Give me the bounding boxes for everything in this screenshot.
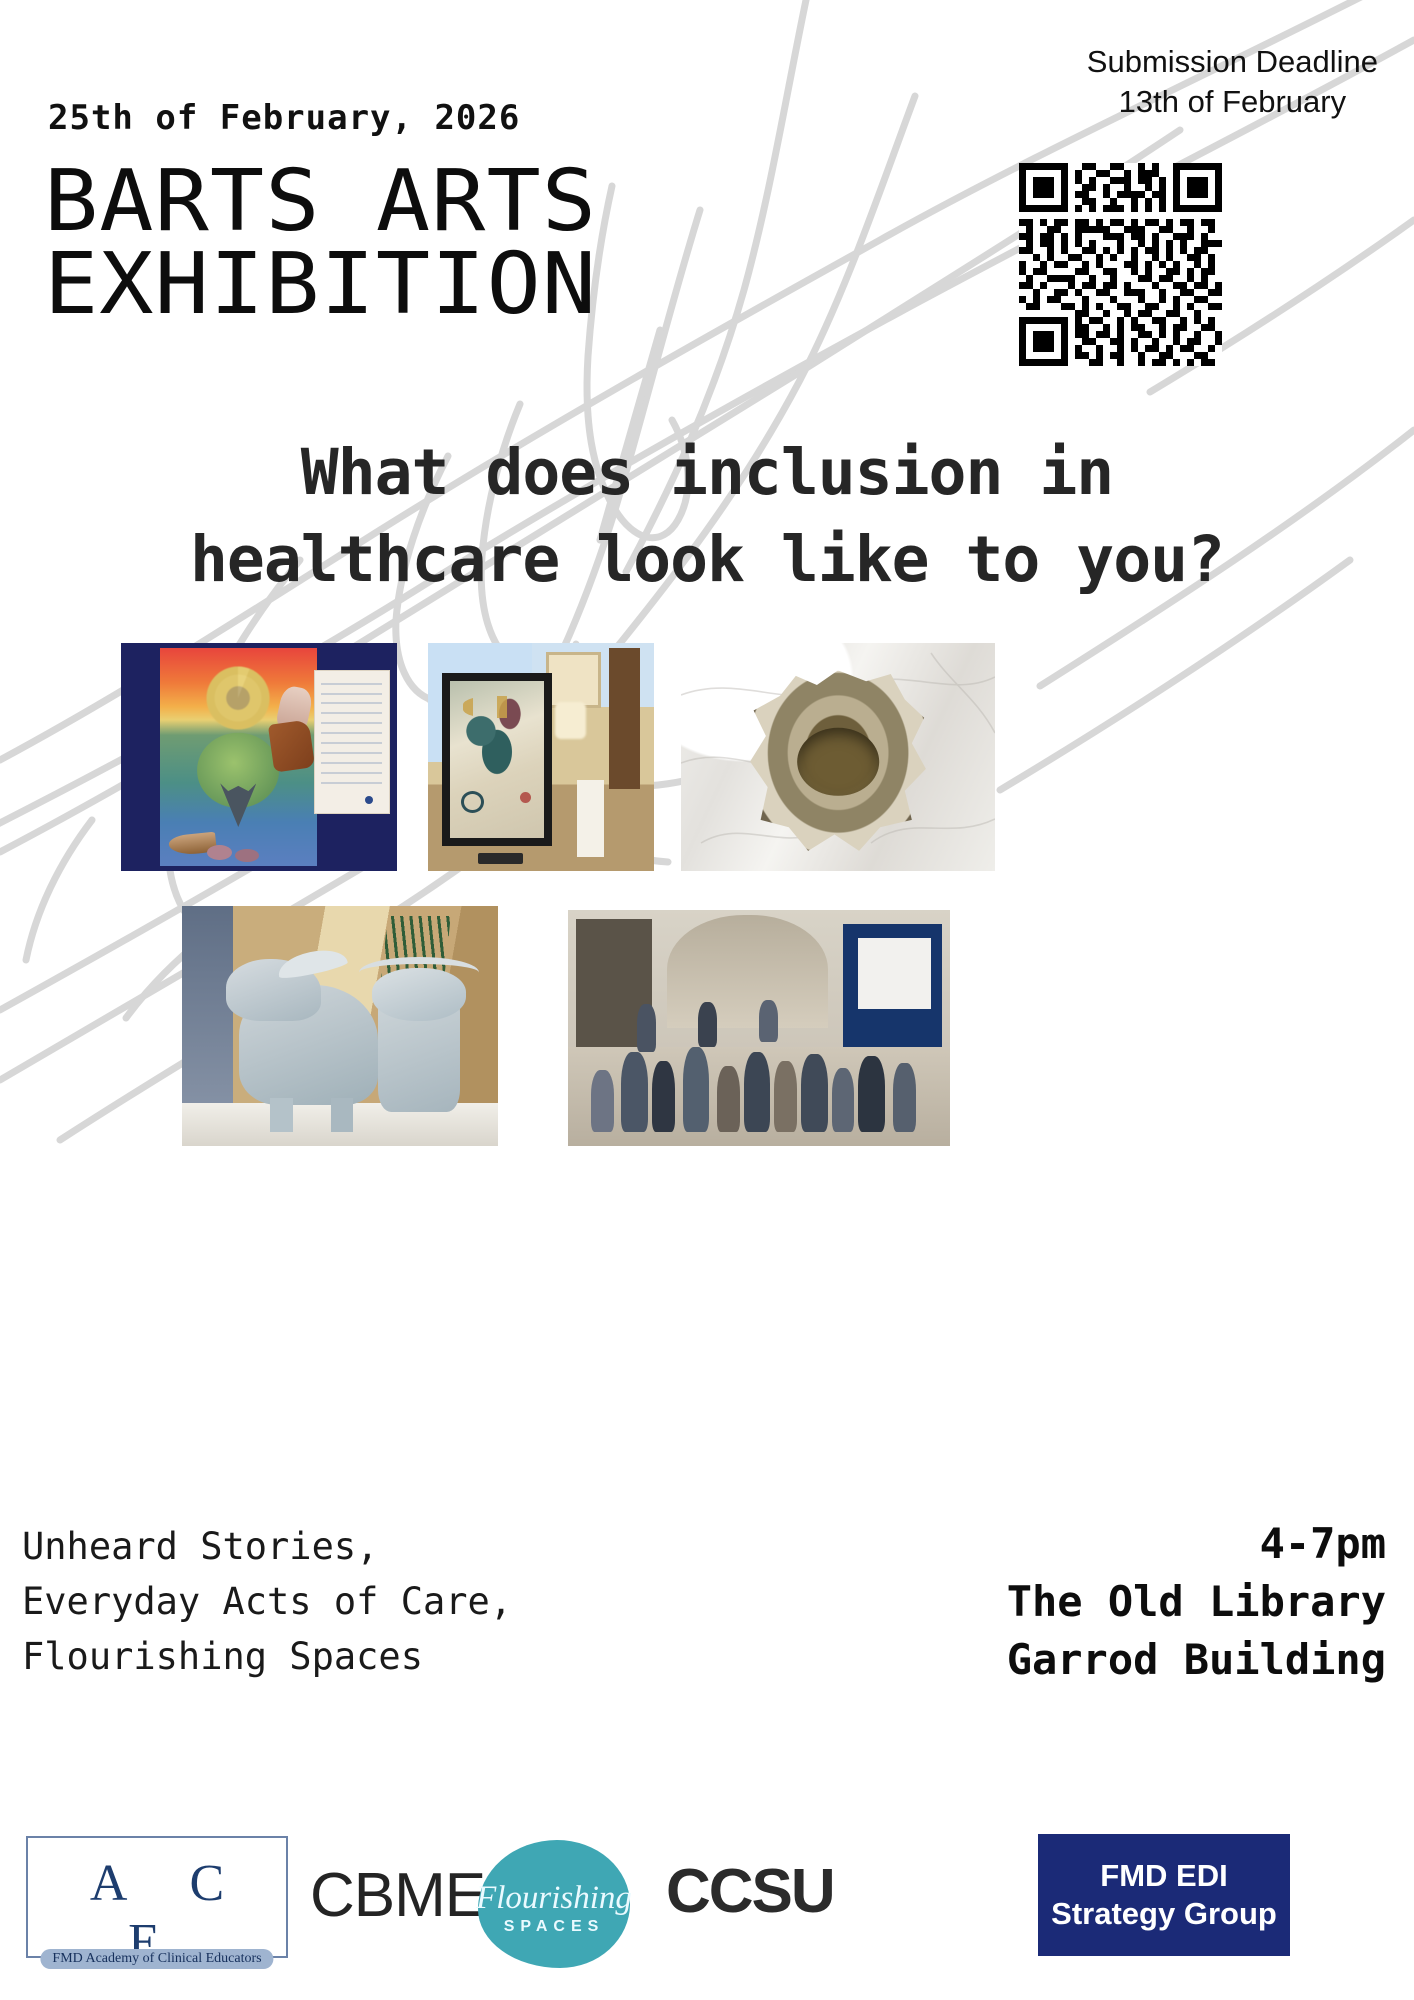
poster-title: BARTS ARTS EXHIBITION: [44, 160, 566, 327]
theme-line-2: Everyday Acts of Care,: [22, 1575, 512, 1630]
event-date: 25th of February, 2026: [48, 98, 520, 138]
fmd-edi-line-1: FMD EDI: [1100, 1857, 1227, 1895]
flourishing-word: Flourishing: [474, 1880, 634, 1917]
gallery-image-framed-artwork-in-room: [428, 643, 654, 871]
deadline-line-2: 13th of February: [1087, 82, 1378, 122]
poster-root: 25th of February, 2026 BARTS ARTS EXHIBI…: [0, 0, 1414, 2000]
logo-cbme: CBME: [310, 1860, 485, 1931]
question-line-2: healthcare look like to you?: [0, 517, 1414, 604]
venue-time: 4-7pm: [1007, 1515, 1386, 1573]
title-line-1: BARTS ARTS: [44, 160, 597, 243]
gallery-image-exhibition-crowd: [568, 910, 950, 1146]
flourishing-subword: SPACES: [474, 1918, 634, 1936]
question-line-1: What does inclusion in: [0, 430, 1414, 517]
theme-line-1: Unheard Stories,: [22, 1520, 512, 1575]
venue-building: Garrod Building: [1007, 1631, 1386, 1689]
theme-line-3: Flourishing Spaces: [22, 1630, 512, 1685]
logo-ccsu: CCSU: [666, 1856, 834, 1927]
qr-code[interactable]: [1019, 163, 1222, 366]
gallery-image-ceramic-bull-sculptures: [182, 906, 498, 1146]
exhibition-themes: Unheard Stories, Everyday Acts of Care, …: [22, 1520, 512, 1684]
venue-room: The Old Library: [1007, 1573, 1386, 1631]
ace-subtitle: FMD Academy of Clinical Educators: [40, 1949, 273, 1969]
logo-flourishing-spaces: Flourishing SPACES: [474, 1822, 634, 1972]
submission-deadline: Submission Deadline 13th of February: [1087, 42, 1378, 121]
logo-fmd-edi-strategy-group: FMD EDI Strategy Group: [1038, 1834, 1290, 1956]
event-venue-details: 4-7pm The Old Library Garrod Building: [1007, 1515, 1386, 1689]
gallery-image-metal-vessel-on-marble: [681, 643, 995, 871]
exhibition-question: What does inclusion in healthcare look l…: [0, 430, 1414, 604]
deadline-line-1: Submission Deadline: [1087, 42, 1378, 82]
title-line-2: EXHIBITION: [44, 243, 597, 326]
fmd-edi-line-2: Strategy Group: [1051, 1895, 1277, 1933]
partner-logos: A C E FMD Academy of Clinical Educators …: [0, 1800, 1414, 1990]
logo-ace: A C E FMD Academy of Clinical Educators: [26, 1836, 288, 1958]
gallery-image-sunflower-painting: [121, 643, 397, 871]
